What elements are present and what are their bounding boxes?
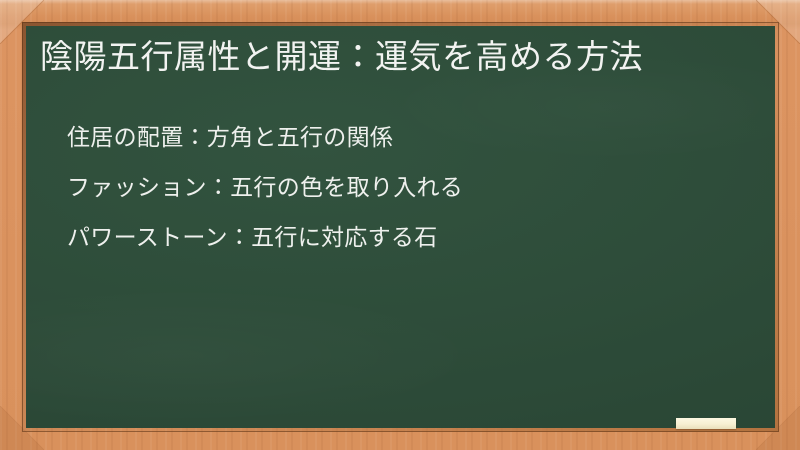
chalkboard-slide: 陰陽五行属性と開運：運気を高める方法 住居の配置：方角と五行の関係 ファッション… (0, 0, 800, 450)
board-title: 陰陽五行属性と開運：運気を高める方法 (34, 34, 757, 79)
chalkboard-surface: 陰陽五行属性と開運：運気を高める方法 住居の配置：方角と五行の関係 ファッション… (26, 26, 775, 428)
list-item: ファッション：五行の色を取り入れる (67, 163, 757, 213)
board-content: 陰陽五行属性と開運：運気を高める方法 住居の配置：方角と五行の関係 ファッション… (26, 26, 775, 428)
list-item: 住居の配置：方角と五行の関係 (67, 113, 757, 163)
chalk-stick-icon (676, 418, 736, 429)
list-item: パワーストーン：五行に対応する石 (67, 213, 757, 263)
board-topic-list: 住居の配置：方角と五行の関係 ファッション：五行の色を取り入れる パワーストーン… (34, 113, 757, 263)
